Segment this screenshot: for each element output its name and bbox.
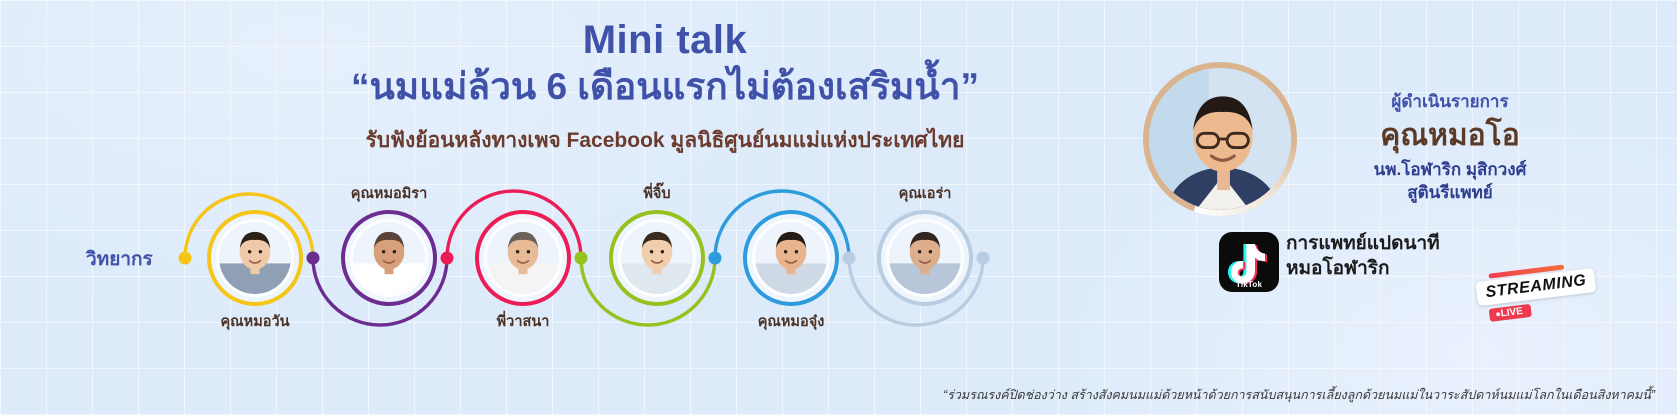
host-info: ผู้ดำเนินรายการ คุณหมอโอ นพ.โอฬาริก มุสิ… <box>1300 88 1600 205</box>
speaker-photo <box>484 219 562 297</box>
speaker-photo <box>886 219 964 297</box>
host-avatar <box>1143 62 1297 216</box>
timeline-dot <box>441 252 454 265</box>
speaker-portrait-illustration <box>755 222 827 294</box>
speaker-portrait-illustration <box>219 222 291 294</box>
timeline-dot <box>709 252 722 265</box>
footer-note: “ร่วมรณรงค์ปิดช่องว่าง สร้างสังคมนมแม่ด้… <box>0 385 1655 405</box>
speaker-name: พี่วาสนา <box>408 310 638 333</box>
speaker-portrait-illustration <box>621 222 693 294</box>
headline-subtitle: รับฟังย้อนหลังทางเพจ Facebook มูลนิธิศูน… <box>250 124 1080 157</box>
speaker-ring <box>743 210 839 306</box>
speaker-name: คุณเอร่า <box>810 182 1040 205</box>
speaker-node[interactable]: คุณหมอจุ๋ง <box>743 210 839 306</box>
speaker-ring <box>475 210 571 306</box>
timeline-dot <box>307 252 320 265</box>
speaker-name: พี่จิ๊บ <box>542 182 772 205</box>
speaker-photo <box>350 219 428 297</box>
host-portrait-illustration <box>1149 68 1291 210</box>
channel-name-line2: หมอโอฬาริก <box>1286 256 1440 281</box>
speaker-ring <box>609 210 705 306</box>
tiktok-icon[interactable]: TikTok <box>1219 232 1279 292</box>
live-label: LIVE <box>1500 306 1523 320</box>
channel-name: การแพทย์แปดนาที หมอโอฬาริก <box>1286 231 1440 281</box>
speaker-photo <box>216 219 294 297</box>
speaker-name: คุณหมอมิรา <box>274 182 504 205</box>
page-title: Mini talk <box>250 18 1080 62</box>
speaker-ring <box>877 210 973 306</box>
speaker-timeline: คุณหมอวันคุณหมอมิราพี่วาสนาพี่จิ๊บคุณหมอ… <box>0 180 1060 355</box>
timeline-dot <box>843 252 856 265</box>
headline-block: Mini talk “นมแม่ล้วน 6 เดือนแรกไม่ต้องเส… <box>250 18 1080 157</box>
live-badge: ●LIVE <box>1489 304 1532 322</box>
host-role: ผู้ดำเนินรายการ <box>1300 88 1600 115</box>
speaker-name: คุณหมอจุ๋ง <box>676 310 906 333</box>
host-full-name: นพ.โอฬาริก มุสิกวงศ์ <box>1300 159 1600 182</box>
speaker-portrait-illustration <box>889 222 961 294</box>
speaker-photo <box>752 219 830 297</box>
timeline-dot <box>977 252 990 265</box>
speaker-portrait-illustration <box>353 222 425 294</box>
channel-name-line1: การแพทย์แปดนาที <box>1286 231 1440 256</box>
host-nickname: คุณหมอโอ <box>1300 119 1600 152</box>
host-specialty: สูตินรีแพทย์ <box>1300 182 1600 205</box>
speaker-portrait-illustration <box>487 222 559 294</box>
timeline-dot <box>575 252 588 265</box>
speaker-node[interactable]: คุณหมอมิรา <box>341 210 437 306</box>
webinar-banner: Mini talk “นมแม่ล้วน 6 เดือนแรกไม่ต้องเส… <box>0 0 1677 415</box>
speaker-node[interactable]: พี่วาสนา <box>475 210 571 306</box>
speaker-ring <box>207 210 303 306</box>
tiktok-wordmark: TikTok <box>1219 280 1279 289</box>
speaker-node[interactable]: คุณเอร่า <box>877 210 973 306</box>
speaker-ring <box>341 210 437 306</box>
speaker-node[interactable]: พี่จิ๊บ <box>609 210 705 306</box>
speaker-photo <box>618 219 696 297</box>
streaming-badge: STREAMING ●LIVE <box>1474 261 1598 324</box>
speaker-node[interactable]: คุณหมอวัน <box>207 210 303 306</box>
speaker-name: คุณหมอวัน <box>140 310 370 333</box>
timeline-dot <box>179 252 192 265</box>
headline-quote: “นมแม่ล้วน 6 เดือนแรกไม่ต้องเสริมน้ำ” <box>250 64 1080 110</box>
host-avatar-image <box>1149 68 1291 210</box>
